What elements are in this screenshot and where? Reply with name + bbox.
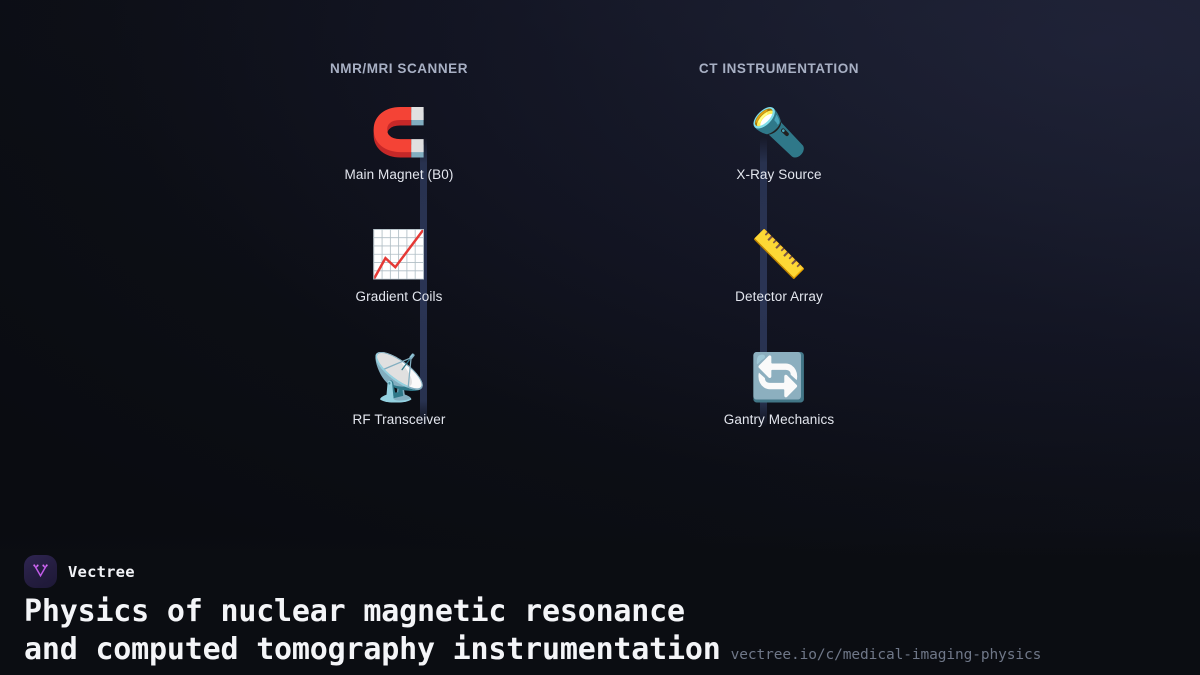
counterclockwise-arrows-icon: 🔄 [609,348,949,406]
footer-bar: Vectree Physics of nuclear magnetic reso… [0,527,1200,675]
satellite-antenna-icon: 📡 [229,348,569,406]
node-label: X-Ray Source [609,167,949,182]
page-title: Physics of nuclear magnetic resonance an… [24,593,1176,669]
graph-node[interactable]: 🧲 Main Magnet (B0) [229,103,569,182]
vectree-logo-icon [24,555,57,588]
graph-node[interactable]: 🔦 X-Ray Source [609,103,949,182]
node-label: Gantry Mechanics [609,412,949,427]
slide-title-block: Physics of nuclear magnetic resonance an… [24,593,1176,669]
straight-ruler-icon: 📏 [609,225,949,283]
slide-canvas: NMR/MRI SCANNER 🧲 Main Magnet (B0) 📈 Gra… [0,0,1200,675]
brand-name: Vectree [68,563,135,581]
flashlight-icon: 🔦 [609,103,949,161]
concept-graph: NMR/MRI SCANNER 🧲 Main Magnet (B0) 📈 Gra… [0,0,1200,520]
graph-node[interactable]: 🔄 Gantry Mechanics [609,348,949,427]
page-title-line-1: Physics of nuclear magnetic resonance [24,593,1176,631]
graph-node[interactable]: 📏 Detector Array [609,225,949,304]
graph-node[interactable]: 📈 Gradient Coils [229,225,569,304]
graph-node[interactable]: 📡 RF Transceiver [229,348,569,427]
chart-increasing-icon: 📈 [229,225,569,283]
brand-lockup[interactable]: Vectree [24,555,135,588]
column-title: NMR/MRI SCANNER [229,61,569,76]
node-label: RF Transceiver [229,412,569,427]
source-url: vectree.io/c/medical-imaging-physics [731,646,1042,664]
node-label: Gradient Coils [229,289,569,304]
magnet-icon: 🧲 [229,103,569,161]
node-label: Detector Array [609,289,949,304]
node-label: Main Magnet (B0) [229,167,569,182]
column-title: CT INSTRUMENTATION [609,61,949,76]
page-title-line-2: and computed tomography instrumentation [24,631,721,669]
